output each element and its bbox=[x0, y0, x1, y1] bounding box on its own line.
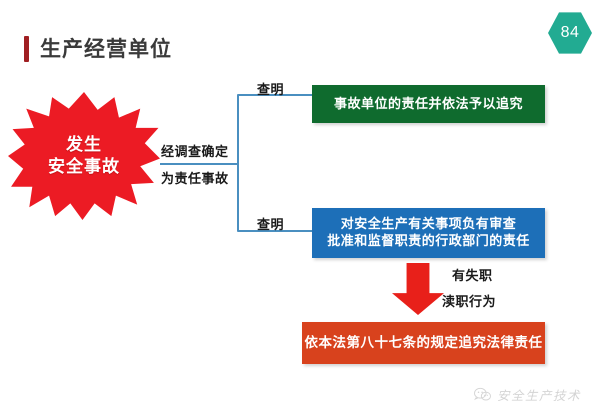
arrow-label-line-2: 渎职行为 bbox=[442, 291, 496, 310]
slide-canvas: 生产经营单位 84 发生 安全事故 经调查确定 为责任事故 查明 查明 事故单位… bbox=[0, 0, 600, 415]
flow-box-department-liability-line-1: 对安全生产有关事项负有审查 bbox=[341, 216, 517, 233]
flow-box-legal-liability-text: 依本法第八十七条的规定追究法律责任 bbox=[305, 334, 543, 352]
page-number-label: 84 bbox=[561, 25, 580, 41]
page-number-badge: 84 bbox=[548, 11, 592, 55]
condition-label-line-1: 经调查确定 bbox=[161, 141, 229, 160]
arrow-label-line-1: 有失职 bbox=[452, 265, 493, 284]
watermark-label: 安全生产技术 bbox=[497, 385, 581, 404]
title-label: 生产经营单位 bbox=[40, 39, 172, 60]
connector-stem bbox=[160, 163, 238, 165]
flow-box-department-liability: 对安全生产有关事项负有审查 批准和监督职责的行政部门的责任 bbox=[312, 208, 545, 258]
branch-label-top: 查明 bbox=[257, 79, 284, 98]
flow-box-legal-liability: 依本法第八十七条的规定追究法律责任 bbox=[302, 322, 545, 364]
starburst-accident-node: 发生 安全事故 bbox=[8, 92, 160, 220]
page-title: 生产经营单位 bbox=[24, 36, 172, 62]
flow-box-unit-liability-text: 事故单位的责任并依法予以追究 bbox=[334, 96, 523, 113]
starburst-line-1: 发生 bbox=[66, 134, 102, 156]
flow-box-unit-liability: 事故单位的责任并依法予以追究 bbox=[312, 85, 545, 123]
title-accent-bar bbox=[24, 36, 29, 62]
wechat-icon bbox=[474, 387, 491, 402]
branch-label-bottom: 查明 bbox=[257, 214, 284, 233]
watermark: 安全生产技术 bbox=[474, 385, 581, 404]
starburst-line-2: 安全事故 bbox=[48, 156, 120, 178]
down-arrow-icon bbox=[392, 263, 444, 315]
connector-spine bbox=[237, 94, 239, 232]
flow-box-department-liability-line-2: 批准和监督职责的行政部门的责任 bbox=[327, 233, 530, 250]
condition-label-line-2: 为责任事故 bbox=[161, 168, 229, 187]
